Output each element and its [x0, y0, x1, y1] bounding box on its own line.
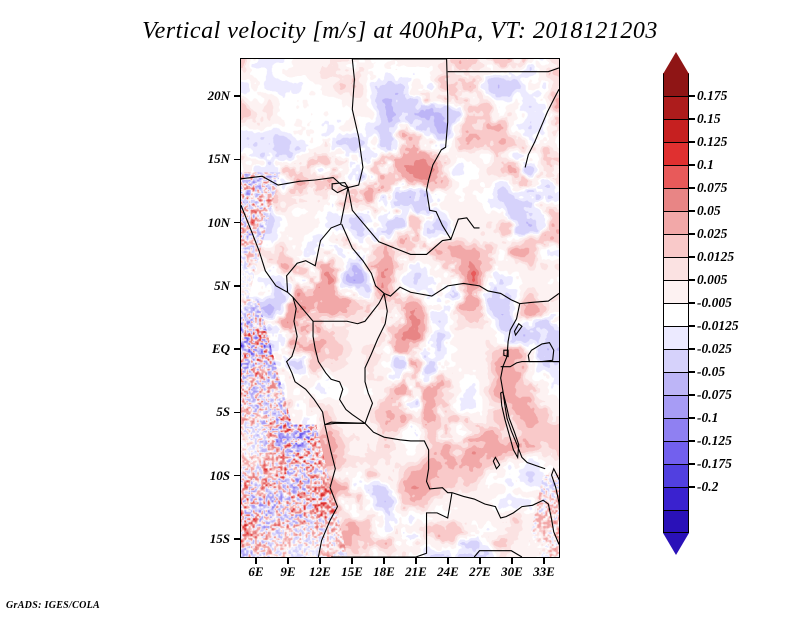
colorbar-swatch — [663, 441, 689, 464]
colorbar-swatch — [663, 96, 689, 119]
colorbar-swatch — [663, 418, 689, 441]
colorbar-label: 0.175 — [697, 88, 727, 104]
colorbar-tick-mark — [689, 233, 695, 235]
colorbar: 0.1750.150.1250.10.0750.050.0250.01250.0… — [663, 73, 689, 533]
latitude-tick-mark — [234, 285, 240, 287]
latitude-tick-label: 5N — [214, 278, 230, 294]
lake-victoria — [528, 343, 553, 362]
border-drc-congo — [325, 293, 388, 424]
colorbar-label: 0.125 — [697, 134, 727, 150]
longitude-tick-mark — [447, 558, 449, 564]
colorbar-swatch — [663, 211, 689, 234]
longitude-tick-label: 30E — [501, 564, 523, 580]
coastline-red-sea — [525, 89, 559, 167]
colorbar-tick-mark — [689, 417, 695, 419]
border-chad-sudan — [352, 59, 479, 239]
colorbar-label: -0.0125 — [697, 318, 739, 334]
colorbar-label: -0.025 — [697, 341, 732, 357]
colorbar-label: -0.125 — [697, 433, 732, 449]
colorbar-tick-mark — [689, 210, 695, 212]
latitude-tick-label: 15N — [208, 151, 230, 167]
longitude-tick-mark — [287, 558, 289, 564]
colorbar-label: -0.2 — [697, 479, 718, 495]
colorbar-label: 0.0125 — [697, 249, 734, 265]
coastline-atlantic — [241, 205, 337, 557]
latitude-tick-mark — [234, 159, 240, 161]
border-uganda-sudan — [520, 293, 559, 303]
colorbar-swatch — [663, 119, 689, 142]
border-tanzania-north — [501, 362, 559, 367]
longitude-tick-mark — [383, 558, 385, 564]
latitude-tick-label: 15S — [210, 531, 230, 547]
country-borders-overlay — [241, 59, 559, 557]
map-plot-area — [240, 58, 560, 558]
longitude-tick-label: 12E — [309, 564, 331, 580]
latitude-tick-mark — [234, 95, 240, 97]
colorbar-swatch — [663, 510, 689, 533]
colorbar-label: 0.005 — [697, 272, 727, 288]
colorbar-tick-mark — [689, 463, 695, 465]
border-angola-zambia — [331, 493, 452, 557]
latitude-tick-label: 5S — [216, 404, 230, 420]
colorbar-tick-mark — [689, 279, 695, 281]
colorbar-tick-mark — [689, 302, 695, 304]
colorbar-label: 0.1 — [697, 157, 714, 173]
colorbar-tick-mark — [689, 348, 695, 350]
colorbar-bottom-cap — [663, 533, 689, 555]
longitude-tick-label: 24E — [437, 564, 459, 580]
colorbar-tick-mark — [689, 141, 695, 143]
latitude-tick-mark — [234, 538, 240, 540]
colorbar-top-cap — [663, 52, 689, 74]
lake-malawi — [552, 469, 559, 528]
longitude-tick-mark — [543, 558, 545, 564]
colorbar-tick-mark — [689, 371, 695, 373]
latitude-tick-mark — [234, 475, 240, 477]
longitude-tick-label: 6E — [248, 564, 263, 580]
longitude-tick-label: 21E — [405, 564, 427, 580]
colorbar-tick-mark — [689, 394, 695, 396]
colorbar-swatch — [663, 257, 689, 280]
longitude-tick-label: 9E — [280, 564, 295, 580]
latitude-tick-label: 10N — [208, 215, 230, 231]
border-rift-valley — [501, 304, 546, 469]
colorbar-label: -0.1 — [697, 410, 718, 426]
border-zambia-south — [452, 493, 559, 545]
colorbar-label: -0.005 — [697, 295, 732, 311]
colorbar-tick-mark — [689, 95, 695, 97]
longitude-tick-mark — [415, 558, 417, 564]
colorbar-swatch — [663, 73, 689, 96]
lake-mweru — [493, 457, 499, 468]
longitude-tick-label: 27E — [469, 564, 491, 580]
colorbar-tick-mark — [689, 486, 695, 488]
border-nigeria-cameroon — [287, 188, 348, 293]
latitude-axis-labels: 20N15N10N5NEQ5S10S15S — [0, 0, 236, 618]
colorbar-swatch — [663, 303, 689, 326]
colorbar-swatch — [663, 487, 689, 510]
longitude-tick-mark — [319, 558, 321, 564]
longitude-tick-label: 18E — [373, 564, 395, 580]
lake-albert — [514, 324, 521, 335]
longitude-tick-label: 15E — [341, 564, 363, 580]
border-car-north — [348, 188, 451, 255]
colorbar-swatch — [663, 188, 689, 211]
longitude-tick-label: 33E — [533, 564, 555, 580]
grads-credit: GrADS: IGES/COLA — [6, 600, 100, 611]
colorbar-swatch — [663, 234, 689, 257]
colorbar-label: -0.175 — [697, 456, 732, 472]
border-cameroon-south — [293, 293, 384, 323]
longitude-tick-mark — [255, 558, 257, 564]
colorbar-label: 0.075 — [697, 180, 727, 196]
longitude-tick-mark — [351, 558, 353, 564]
colorbar-label: 0.025 — [697, 226, 727, 242]
colorbar-swatch — [663, 349, 689, 372]
colorbar-label: -0.05 — [697, 364, 725, 380]
colorbar-swatch — [663, 326, 689, 349]
colorbar-label: -0.075 — [697, 387, 732, 403]
latitude-tick-label: EQ — [212, 341, 230, 357]
colorbar-tick-mark — [689, 164, 695, 166]
latitude-tick-mark — [234, 412, 240, 414]
colorbar-swatch — [663, 142, 689, 165]
longitude-tick-mark — [479, 558, 481, 564]
latitude-tick-label: 10S — [210, 468, 230, 484]
border-car-drc — [342, 224, 520, 303]
border-zimbabwe-north — [474, 551, 522, 557]
colorbar-label: 0.05 — [697, 203, 721, 219]
border-gabon-congo — [313, 321, 365, 423]
border-egypt-sudan — [448, 68, 559, 72]
colorbar-tick-mark — [689, 256, 695, 258]
latitude-tick-mark — [234, 222, 240, 224]
colorbar-swatch — [663, 165, 689, 188]
colorbar-swatch — [663, 280, 689, 303]
colorbar-tick-mark — [689, 325, 695, 327]
colorbar-swatch — [663, 464, 689, 487]
colorbar-swatch — [663, 372, 689, 395]
colorbar-tick-mark — [689, 118, 695, 120]
longitude-tick-mark — [511, 558, 513, 564]
colorbar-tick-mark — [689, 187, 695, 189]
border-angola-drc — [325, 423, 452, 492]
colorbar-swatch — [663, 395, 689, 418]
colorbar-label: 0.15 — [697, 111, 721, 127]
latitude-tick-mark — [234, 348, 240, 350]
border-chad-west — [348, 59, 363, 188]
latitude-tick-label: 20N — [208, 88, 230, 104]
colorbar-tick-mark — [689, 440, 695, 442]
